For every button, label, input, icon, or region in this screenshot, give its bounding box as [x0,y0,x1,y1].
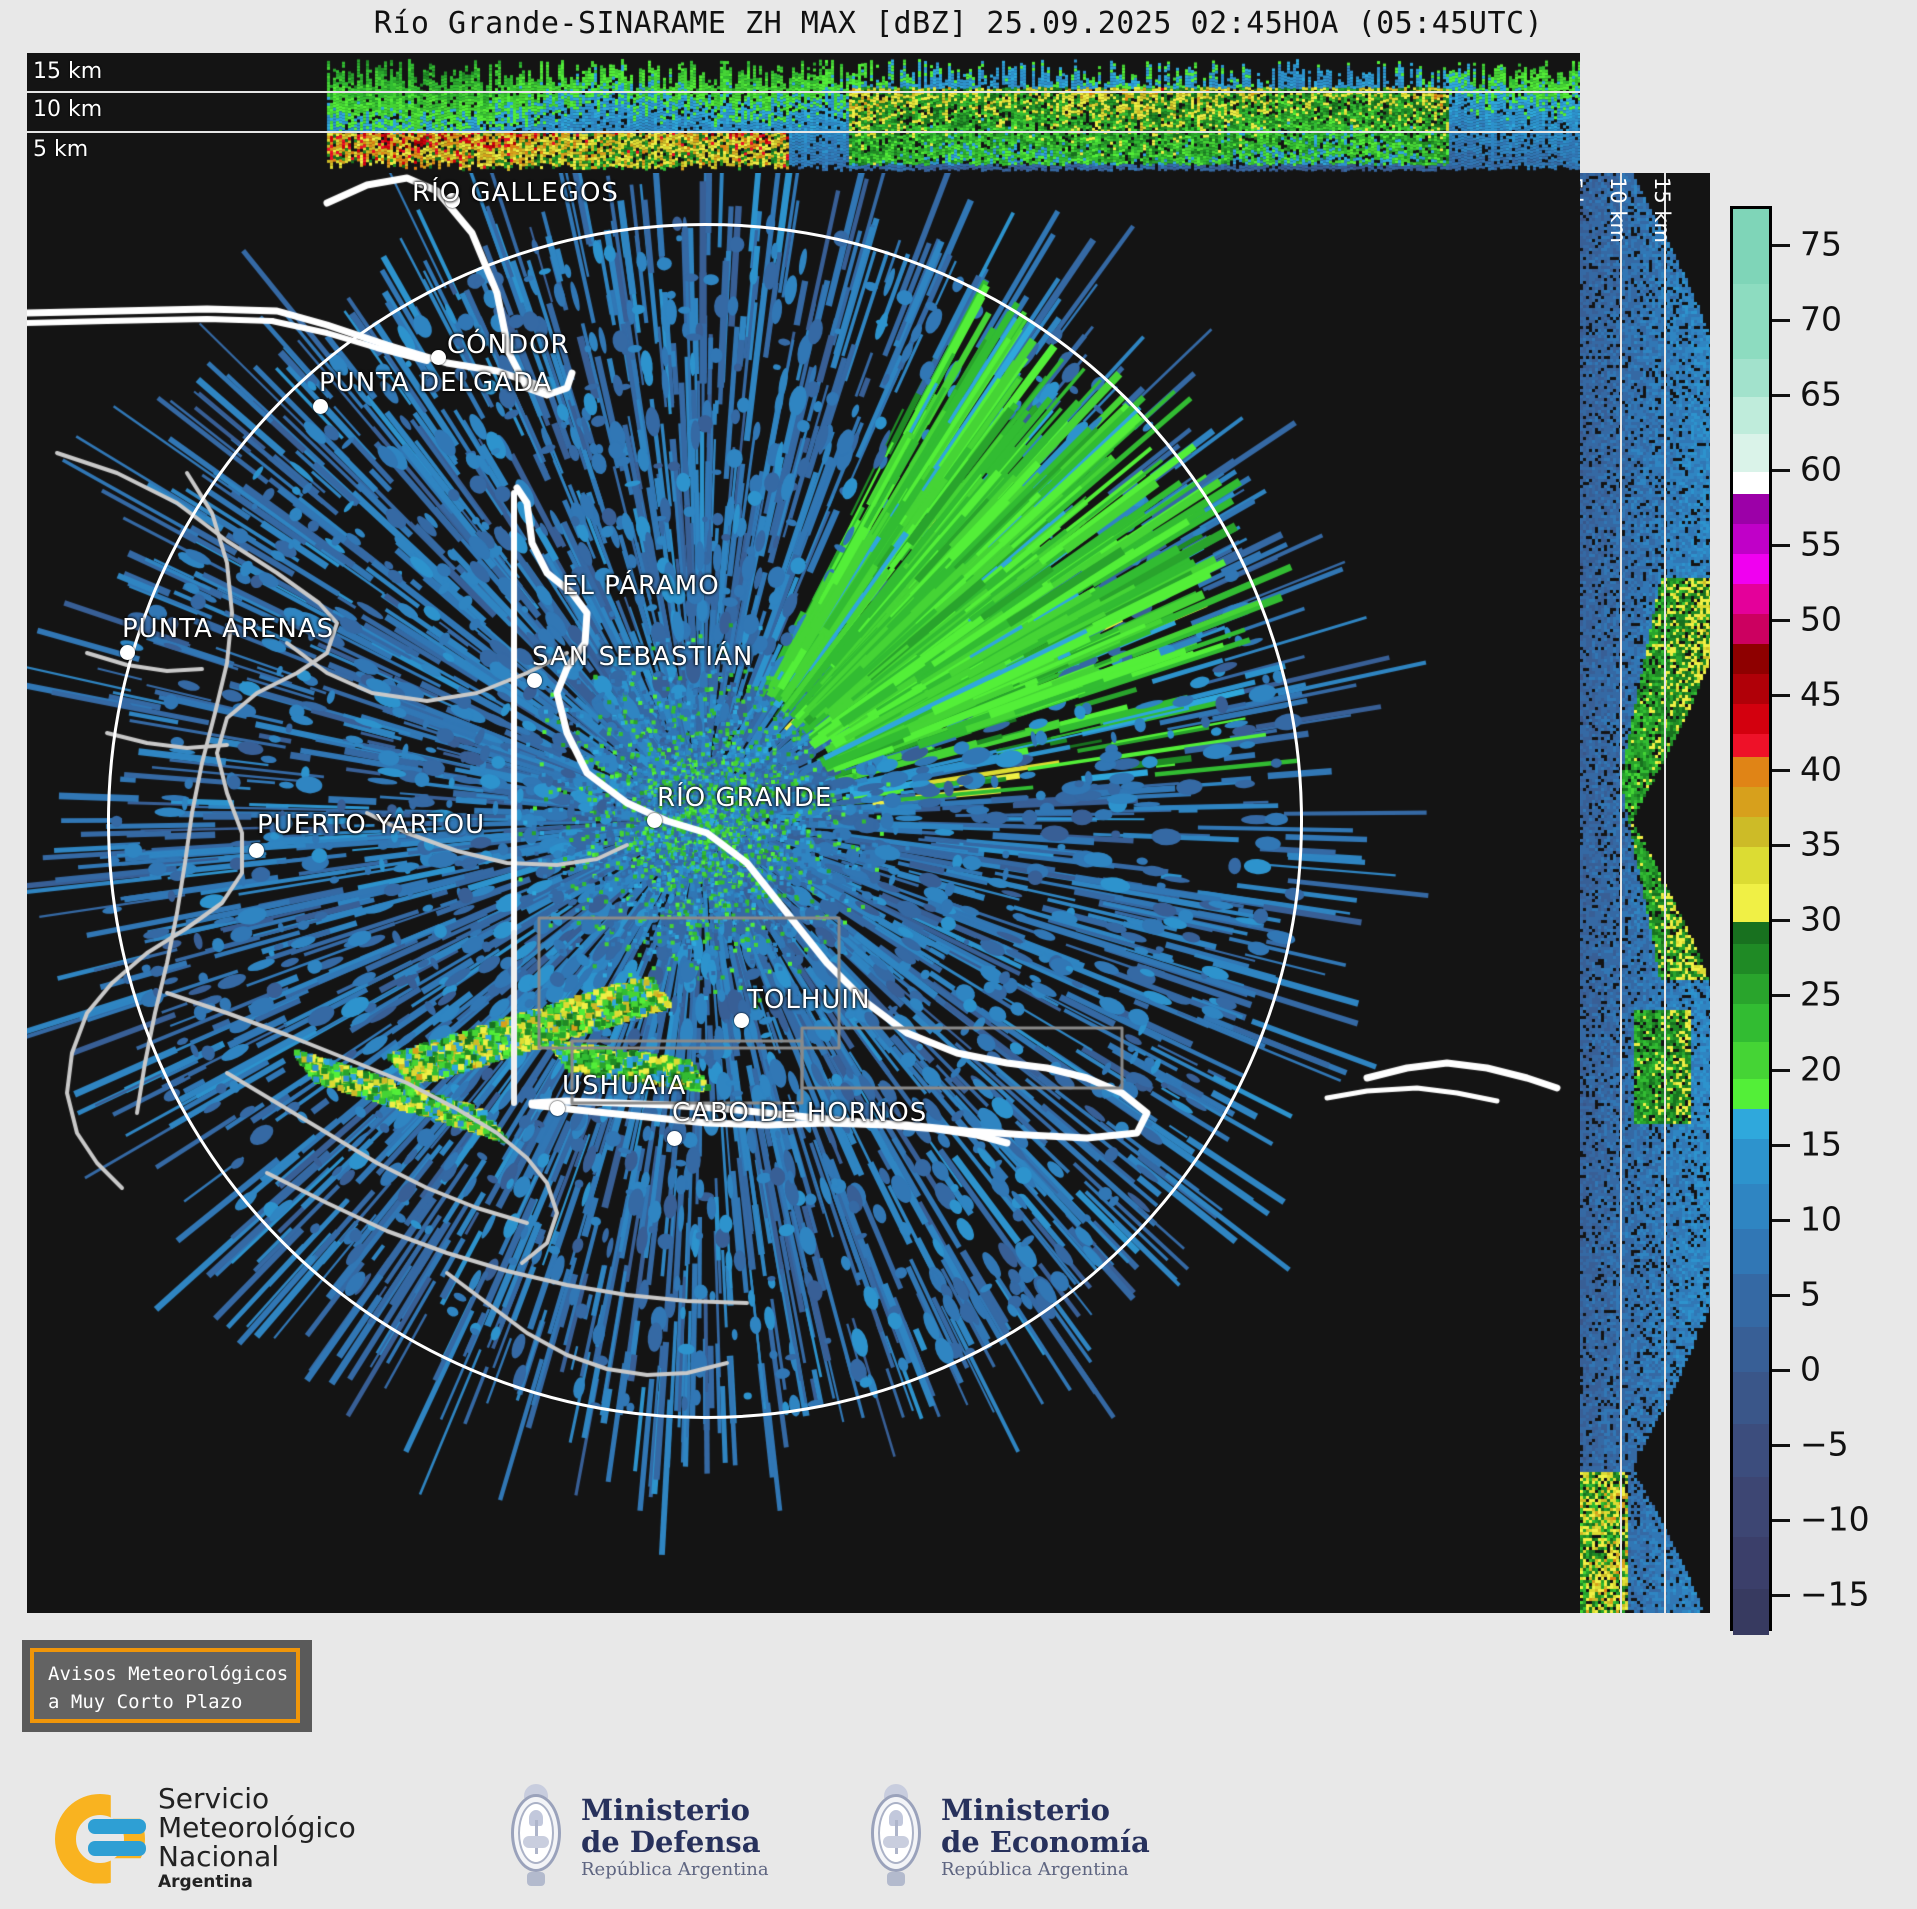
footer-logos: Servicio Meteorológico Nacional Argentin… [0,1770,1917,1909]
height-label-5km: 5 km [33,137,88,162]
colorbar-band [1733,1184,1769,1230]
colorbar-ticks: 757065605550454035302520151050−5−10−15 [1772,206,1912,1631]
height-label-v-10km: 10 km [1606,177,1630,243]
colorbar-band [1733,1042,1769,1080]
colorbar-band [1733,757,1769,788]
colorbar-tick [1772,919,1790,922]
colorbar-tick-label: 15 [1800,1124,1842,1163]
smn-line-1: Servicio [158,1784,356,1813]
colorbar-tick [1772,244,1790,247]
colorbar-tick-label: 70 [1800,299,1842,338]
colorbar-tick-label: 5 [1800,1274,1821,1313]
city-marker-dot [527,673,542,688]
colorbar-band [1733,1424,1769,1477]
height-gridline-15km [27,91,1580,93]
city-marker-dot [550,1101,565,1116]
city-label: CABO DE HORNOS [672,1098,927,1128]
colorbar-tick [1772,694,1790,697]
colorbar-band [1733,922,1769,945]
page-title: Río Grande-SINARAME ZH MAX [dBZ] 25.09.2… [0,6,1917,41]
coat-of-arms-icon [865,1784,927,1892]
colorbar-band [1733,644,1769,675]
colorbar-tick [1772,1069,1790,1072]
city-marker-dot [667,1131,682,1146]
colorbar-band [1733,734,1769,757]
alert-line-1: Avisos Meteorológicos [48,1660,296,1688]
colorbar-tick [1772,1444,1790,1447]
colorbar-band [1733,494,1769,525]
colorbar-tick [1772,769,1790,772]
top-cross-section-canvas [27,53,1580,173]
colorbar-tick [1772,1144,1790,1147]
height-label-10km: 10 km [33,97,102,122]
colorbar-band [1733,787,1769,818]
colorbar-band [1733,359,1769,397]
top-cross-section-panel: 15 km 10 km 5 km [27,53,1580,173]
colorbar-band [1733,1589,1769,1635]
coat-of-arms-icon [505,1784,567,1892]
colorbar-tick [1772,319,1790,322]
city-label: EL PÁRAMO [562,571,720,601]
city-marker-dot [249,843,264,858]
colorbar-band [1733,1109,1769,1140]
logo-smn[interactable]: Servicio Meteorológico Nacional Argentin… [52,1784,356,1893]
city-marker-dot [120,645,135,660]
colorbar-tick [1772,1519,1790,1522]
colorbar-tick-label: 65 [1800,374,1842,413]
economia-line-3: República Argentina [941,1858,1150,1882]
colorbar-band [1733,584,1769,615]
colorbar-band [1733,884,1769,922]
defensa-line-2: de Defensa [581,1826,769,1858]
colorbar-tick [1772,1294,1790,1297]
city-label: RÍO GRANDE [657,783,832,813]
colorbar-band [1733,1327,1769,1373]
city-label: CÓNDOR [447,330,570,360]
city-marker-dot [431,350,446,365]
alert-box[interactable]: Avisos Meteorológicos a Muy Corto Plazo [30,1648,300,1723]
colorbar-band [1733,614,1769,645]
colorbar-tick [1772,469,1790,472]
right-cross-section-canvas [1580,173,1710,1613]
colorbar-band [1733,524,1769,555]
colorbar-band [1733,284,1769,360]
city-label: USHUAIA [562,1071,686,1101]
radar-ppi-panel[interactable]: RÍO GALLEGOSCÓNDORPUNTA DELGADAEL PÁRAMO… [27,173,1580,1613]
colorbar-gradient [1730,206,1772,1631]
colorbar-tick-label: 30 [1800,899,1842,938]
colorbar-tick [1772,619,1790,622]
defensa-line-3: República Argentina [581,1858,769,1882]
colorbar: 757065605550454035302520151050−5−10−15 [1730,206,1910,1631]
colorbar-band [1733,817,1769,848]
colorbar-tick-label: 50 [1800,599,1842,638]
colorbar-band [1733,434,1769,472]
height-gridline-10km [27,131,1580,133]
smn-line-3: Nacional [158,1842,356,1871]
colorbar-band [1733,674,1769,705]
colorbar-band [1733,397,1769,435]
colorbar-band [1733,472,1769,495]
colorbar-tick [1772,1594,1790,1597]
height-gridline-v-10km [1664,173,1666,1613]
height-label-v-15km: 15 km [1650,177,1674,243]
colorbar-band [1733,944,1769,975]
smn-line-2: Meteorológico [158,1813,356,1842]
colorbar-tick [1772,1369,1790,1372]
smn-logo-icon [52,1791,148,1887]
colorbar-tick [1772,1219,1790,1222]
city-marker-dot [313,399,328,414]
colorbar-tick [1772,394,1790,397]
colorbar-band [1733,1537,1769,1590]
city-marker-dot [734,1013,749,1028]
colorbar-band [1733,974,1769,1005]
colorbar-tick-label: 20 [1800,1049,1842,1088]
colorbar-tick-label: 10 [1800,1199,1842,1238]
colorbar-tick-label: −5 [1800,1424,1849,1463]
colorbar-tick-label: 40 [1800,749,1842,788]
smn-line-4: Argentina [158,1871,356,1893]
city-label: SAN SEBASTIÁN [532,642,753,672]
colorbar-band [1733,1139,1769,1185]
city-label: PUNTA ARENAS [122,614,334,644]
logo-ministerio-economia[interactable]: Ministerio de Economía República Argenti… [865,1784,1150,1892]
colorbar-band [1733,1372,1769,1425]
colorbar-tick-label: 25 [1800,974,1842,1013]
right-cross-section-panel: 5 km 10 km 15 km [1580,173,1710,1613]
colorbar-band [1733,704,1769,735]
colorbar-band [1733,554,1769,585]
colorbar-tick-label: −10 [1800,1499,1870,1538]
colorbar-band [1733,209,1769,285]
alert-line-2: a Muy Corto Plazo [48,1688,296,1716]
height-gridline-v-5km [1620,173,1622,1613]
colorbar-tick-label: −15 [1800,1574,1870,1613]
colorbar-tick-label: 35 [1800,824,1842,863]
colorbar-tick-label: 75 [1800,224,1842,263]
height-label-15km: 15 km [33,59,102,84]
colorbar-band [1733,1477,1769,1538]
city-label: TOLHUIN [747,985,871,1015]
city-label: RÍO GALLEGOS [412,178,619,208]
colorbar-tick [1772,844,1790,847]
colorbar-tick [1772,544,1790,547]
height-label-v-5km: 5 km [1580,177,1586,230]
colorbar-band [1733,1274,1769,1327]
colorbar-band [1733,847,1769,885]
colorbar-tick-label: 0 [1800,1349,1821,1388]
colorbar-tick [1772,994,1790,997]
logo-ministerio-defensa[interactable]: Ministerio de Defensa República Argentin… [505,1784,769,1892]
city-label: PUERTO YARTOU [257,810,485,840]
colorbar-tick-label: 45 [1800,674,1842,713]
colorbar-tick-label: 55 [1800,524,1842,563]
economia-line-2: de Economía [941,1826,1150,1858]
city-marker-dot [647,813,662,828]
colorbar-band [1733,1079,1769,1110]
defensa-line-1: Ministerio [581,1794,769,1826]
colorbar-tick-label: 60 [1800,449,1842,488]
city-label: PUNTA DELGADA [319,368,552,398]
colorbar-band [1733,1004,1769,1042]
colorbar-band [1733,1229,1769,1275]
economia-line-1: Ministerio [941,1794,1150,1826]
